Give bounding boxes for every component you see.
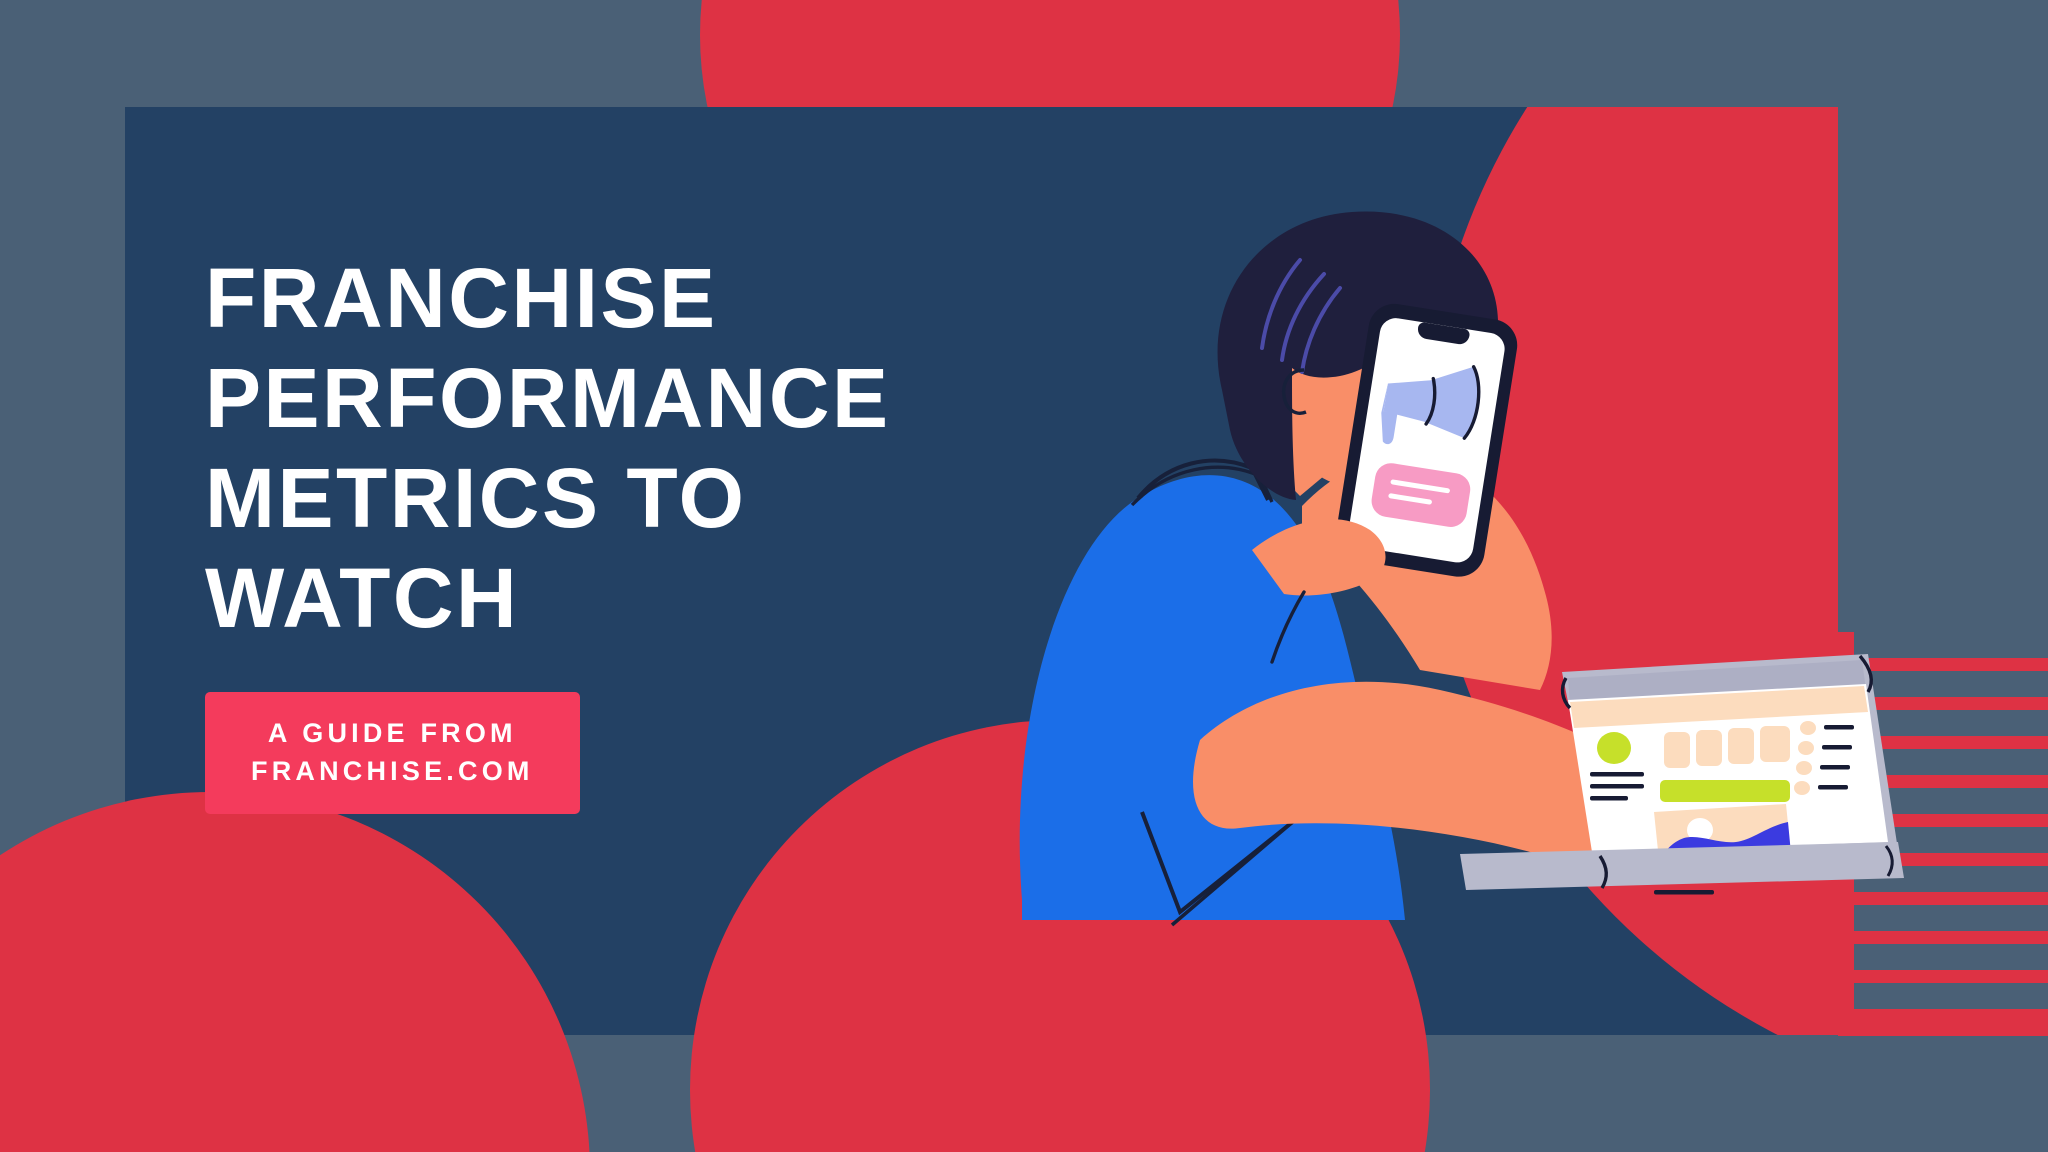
- decor-panel-red-left: [125, 792, 590, 1035]
- legend-line: [1820, 765, 1850, 770]
- decor-stripe: [0, 147, 105, 173]
- text-line: [1654, 890, 1714, 895]
- decor-left-stripes: [0, 108, 124, 512]
- hero-illustration: [900, 200, 1900, 920]
- decor-stripe: [1854, 983, 2048, 1009]
- legend-line: [1824, 725, 1854, 730]
- title-line: Franchise: [205, 248, 1025, 348]
- decor-stripe: [0, 498, 105, 524]
- legend-line: [1818, 785, 1848, 790]
- badge-line-top: A Guide From: [251, 714, 534, 752]
- decor-stripe: [0, 420, 105, 446]
- avatar-circle: [1597, 732, 1631, 764]
- page-title: Franchise Performance Metrics to Watch: [205, 248, 1025, 648]
- legend-line: [1822, 745, 1852, 750]
- decor-stripe: [0, 186, 105, 212]
- legend-dot: [1794, 781, 1810, 795]
- legend-dot: [1800, 721, 1816, 735]
- text-line: [1590, 784, 1644, 789]
- decor-stripe: [0, 264, 105, 290]
- decor-stripe: [0, 225, 105, 251]
- decor-stripe: [0, 381, 105, 407]
- banner-canvas: Franchise Performance Metrics to Watch A…: [0, 0, 2048, 1152]
- source-badge[interactable]: A Guide From Franchise.com: [205, 692, 580, 814]
- badge-line-bottom: Franchise.com: [251, 752, 534, 790]
- bar-block: [1728, 728, 1754, 764]
- decor-stripe: [0, 342, 105, 368]
- progress-bar: [1660, 780, 1790, 802]
- decor-stripe: [1854, 944, 2048, 970]
- bar-block: [1696, 730, 1722, 766]
- legend-dot: [1798, 741, 1814, 755]
- bar-block: [1664, 732, 1690, 768]
- text-line: [1590, 796, 1628, 801]
- decor-stripe: [0, 303, 105, 329]
- title-line: Watch: [205, 548, 1025, 648]
- title-line: Performance: [205, 348, 1025, 448]
- decor-stripe: [0, 459, 105, 485]
- legend-dot: [1796, 761, 1812, 775]
- title-line: Metrics to: [205, 448, 1025, 548]
- banner-text-block: Franchise Performance Metrics to Watch A…: [205, 248, 1025, 814]
- text-line: [1590, 772, 1644, 777]
- decor-stripe: [0, 108, 105, 134]
- bar-block: [1760, 726, 1790, 762]
